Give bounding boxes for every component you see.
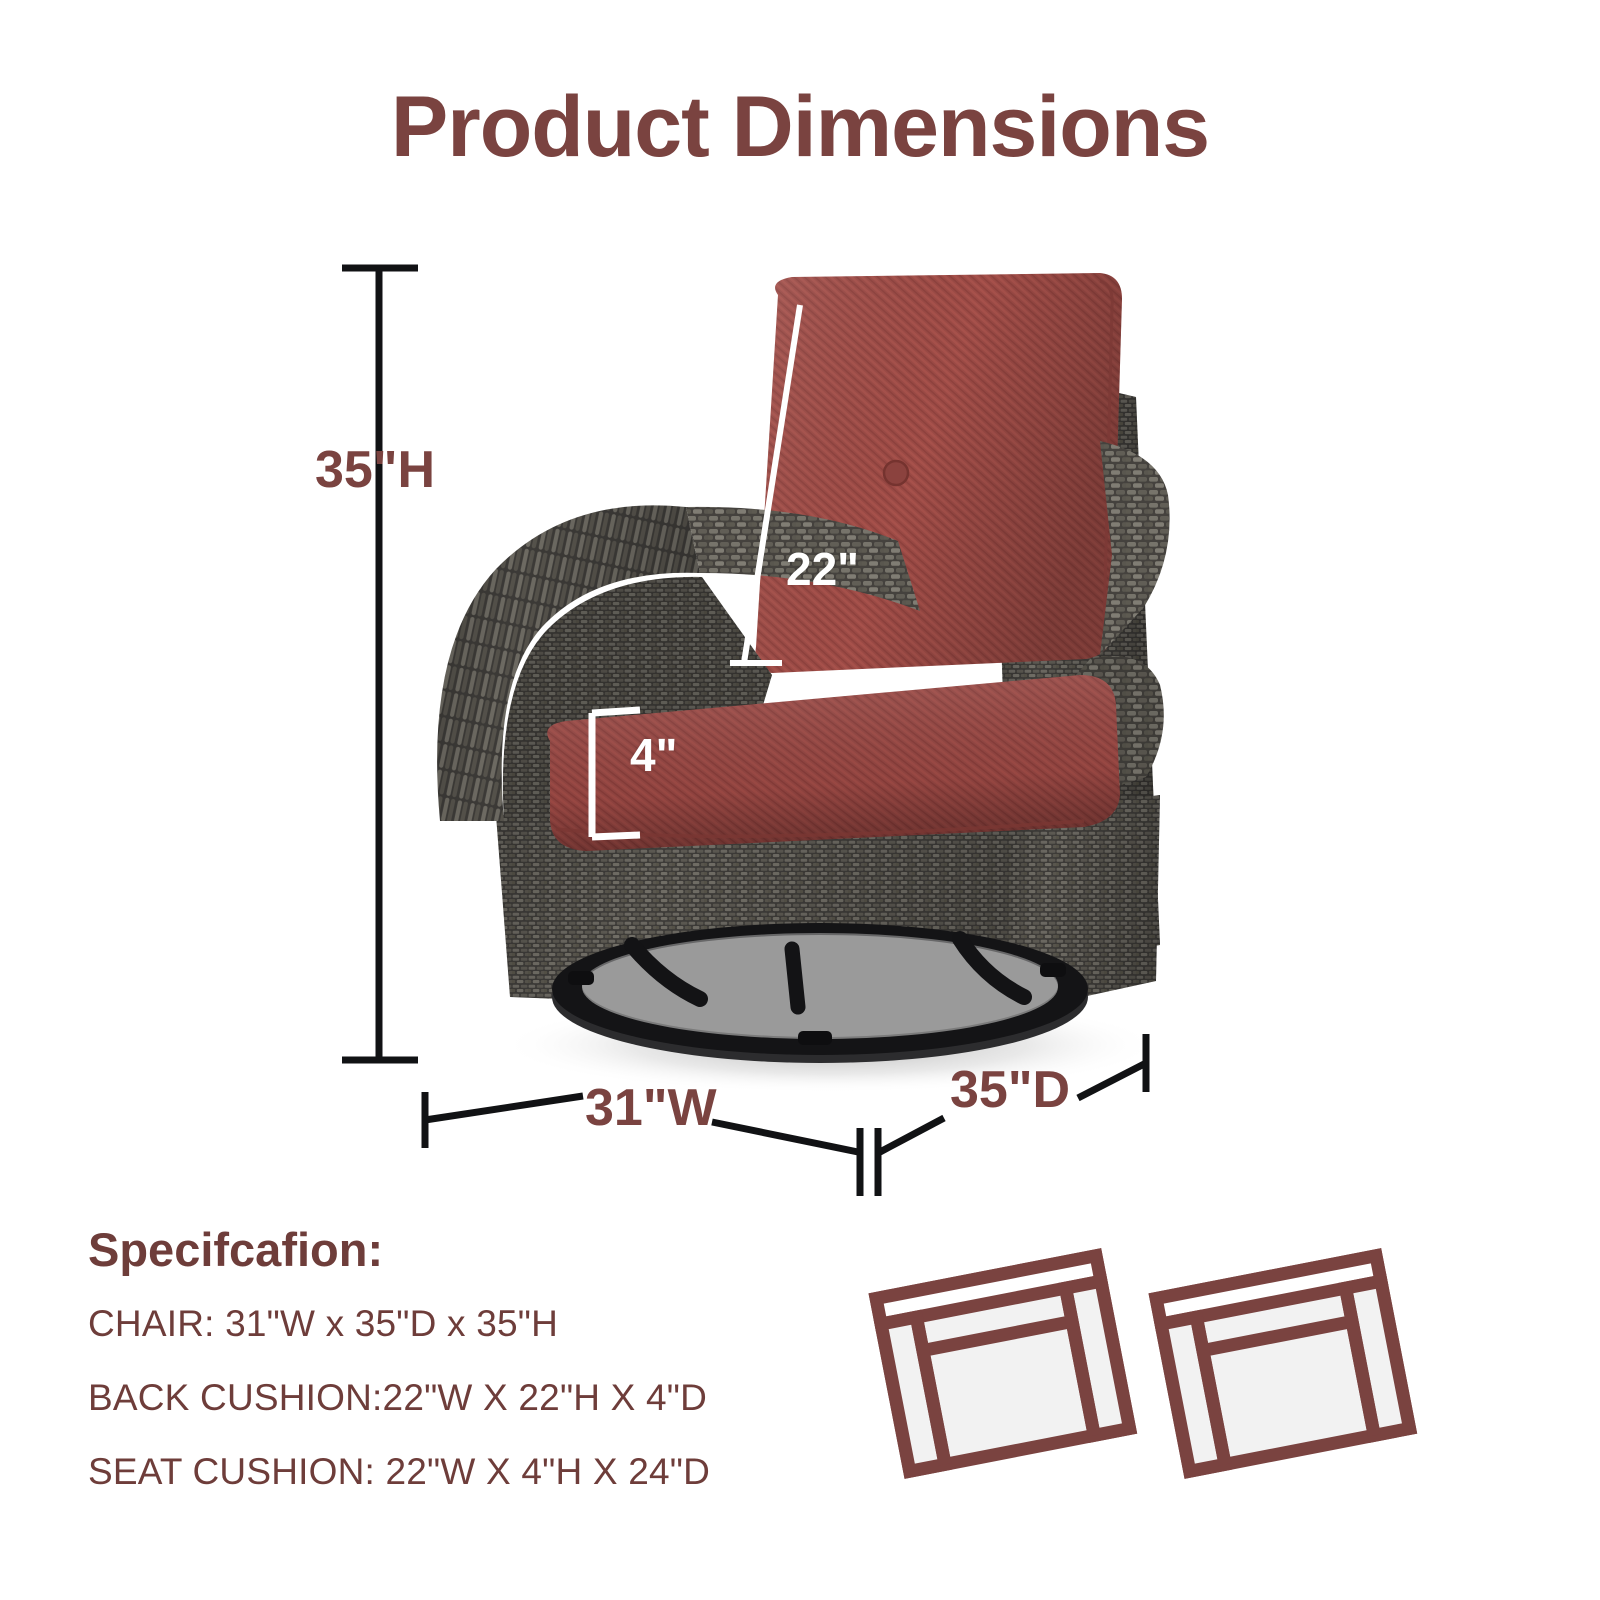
product-image-chair <box>400 255 1200 1100</box>
dim-label-seat-cushion: 4" <box>630 728 677 782</box>
depth-dim-line-a <box>880 1118 944 1152</box>
specification-block: Specifcafion: CHAIR: 31"W x 35"D x 35"H … <box>88 1222 888 1525</box>
dim-label-depth: 35"D <box>950 1060 1070 1120</box>
width-dim-line-b <box>712 1122 858 1152</box>
spec-line-back-cushion: BACK CUSHION:22"W X 22"H X 4"D <box>88 1377 888 1419</box>
chair-outline-icon-1 <box>876 1256 1129 1472</box>
spec-line-chair: CHAIR: 31"W x 35"D x 35"H <box>88 1303 888 1345</box>
chair-outline-icon-2 <box>1156 1256 1409 1472</box>
dim-label-height: 35"H <box>315 440 435 500</box>
specification-heading: Specifcafion: <box>88 1222 888 1277</box>
cushion-icon-group <box>855 1225 1425 1505</box>
swivel-base <box>552 923 1088 1063</box>
dim-label-width: 31"W <box>585 1078 717 1138</box>
infographic-canvas: Product Dimensions <box>0 0 1600 1600</box>
dim-label-back-cushion: 22" <box>786 542 859 596</box>
spec-line-seat-cushion: SEAT CUSHION: 22"W X 4"H X 24"D <box>88 1451 888 1493</box>
page-title: Product Dimensions <box>0 78 1600 177</box>
